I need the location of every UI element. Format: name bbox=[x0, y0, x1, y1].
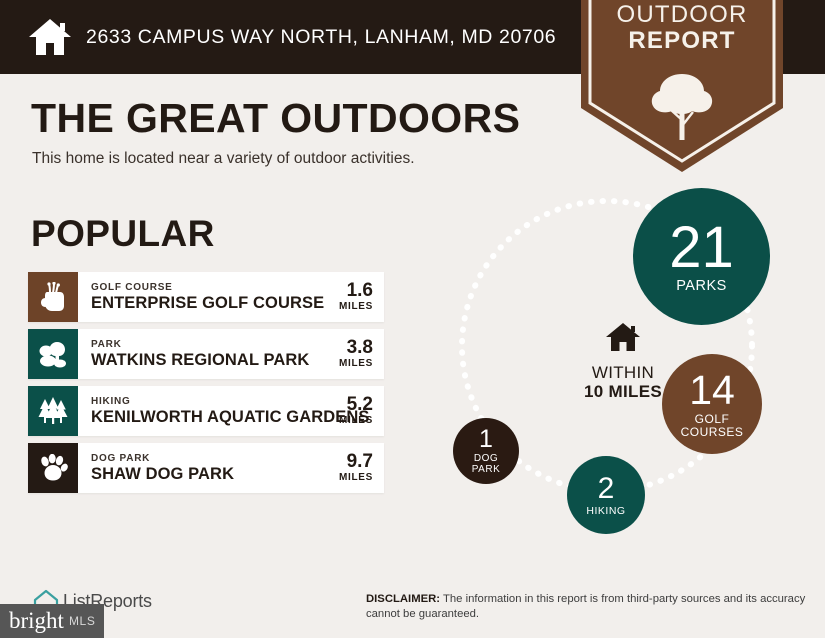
distance-unit: MILES bbox=[339, 472, 373, 484]
paw-print-icon bbox=[28, 443, 78, 493]
popular-list: GOLF COURSE ENTERPRISE GOLF COURSE 1.6 M… bbox=[28, 272, 384, 500]
golf-bag-icon bbox=[28, 272, 78, 322]
distance-value: 5.2 bbox=[347, 395, 373, 415]
list-item-name: ENTERPRISE GOLF COURSE bbox=[91, 294, 333, 313]
popular-heading: POPULAR bbox=[31, 213, 215, 255]
list-item[interactable]: PARK WATKINS REGIONAL PARK 3.8 MILES bbox=[28, 329, 384, 379]
list-item-text: GOLF COURSE ENTERPRISE GOLF COURSE bbox=[78, 272, 333, 322]
list-item-distance: 1.6 MILES bbox=[333, 272, 384, 322]
mls-wordmark: MLS bbox=[69, 614, 95, 628]
bubble-hiking[interactable]: 2 HIKING bbox=[567, 456, 645, 534]
bubble-label: HIKING bbox=[586, 506, 625, 517]
list-item[interactable]: DOG PARK SHAW DOG PARK 9.7 MILES bbox=[28, 443, 384, 493]
bubble-label-line-2: COURSES bbox=[681, 426, 744, 439]
disclaimer-label: DISCLAIMER: bbox=[366, 593, 440, 605]
bubble-label-line-2: PARK bbox=[472, 464, 501, 475]
page-subtitle: This home is located near a variety of o… bbox=[32, 150, 415, 168]
list-item-category: GOLF COURSE bbox=[91, 282, 333, 294]
chart-center-label: WITHIN 10 MILES bbox=[543, 321, 703, 401]
list-item-text: PARK WATKINS REGIONAL PARK bbox=[78, 329, 333, 379]
center-line-1: WITHIN bbox=[543, 363, 703, 382]
outdoor-report-badge: OUTDOOR REPORT bbox=[581, 0, 783, 172]
list-item-distance: 3.8 MILES bbox=[333, 329, 384, 379]
list-item-distance: 9.7 MILES bbox=[333, 443, 384, 493]
list-item-name: WATKINS REGIONAL PARK bbox=[91, 351, 333, 370]
outdoor-report-page: 2633 CAMPUS WAY NORTH, LANHAM, MD 20706 … bbox=[0, 0, 825, 638]
list-item-category: DOG PARK bbox=[91, 453, 333, 465]
bright-mls-logo: bright MLS bbox=[0, 604, 104, 638]
bubble-label: PARKS bbox=[676, 279, 727, 294]
distance-value: 3.8 bbox=[347, 338, 373, 358]
bubble-parks[interactable]: 21 PARKS bbox=[633, 188, 770, 325]
park-trees-icon bbox=[28, 329, 78, 379]
list-item-category: PARK bbox=[91, 339, 333, 351]
bubble-value: 1 bbox=[479, 427, 493, 452]
list-item-text: DOG PARK SHAW DOG PARK bbox=[78, 443, 333, 493]
list-item-text: HIKING KENILWORTH AQUATIC GARDENS bbox=[78, 386, 333, 436]
list-item-distance: 5.2 MILES bbox=[333, 386, 384, 436]
list-item-category: HIKING bbox=[91, 396, 333, 408]
bubble-label-line-1: DOG bbox=[474, 453, 498, 464]
distance-unit: MILES bbox=[339, 415, 373, 427]
page-title: THE GREAT OUTDOORS bbox=[31, 95, 520, 141]
bright-wordmark: bright bbox=[9, 609, 64, 633]
home-icon bbox=[28, 17, 72, 57]
distance-unit: MILES bbox=[339, 358, 373, 370]
bubble-value: 2 bbox=[598, 474, 615, 504]
property-address: 2633 CAMPUS WAY NORTH, LANHAM, MD 20706 bbox=[86, 26, 556, 49]
list-item[interactable]: GOLF COURSE ENTERPRISE GOLF COURSE 1.6 M… bbox=[28, 272, 384, 322]
home-icon bbox=[543, 321, 703, 358]
list-item[interactable]: HIKING KENILWORTH AQUATIC GARDENS 5.2 MI… bbox=[28, 386, 384, 436]
pine-trees-icon bbox=[28, 386, 78, 436]
distance-value: 1.6 bbox=[347, 281, 373, 301]
bubble-label-line-1: GOLF bbox=[695, 413, 730, 426]
distance-value: 9.7 bbox=[347, 452, 373, 472]
list-item-name: KENILWORTH AQUATIC GARDENS bbox=[91, 408, 333, 427]
center-line-2: 10 MILES bbox=[543, 382, 703, 401]
bubble-value: 21 bbox=[669, 219, 734, 277]
list-item-name: SHAW DOG PARK bbox=[91, 465, 333, 484]
disclaimer: DISCLAIMER: The information in this repo… bbox=[366, 592, 814, 621]
distance-unit: MILES bbox=[339, 301, 373, 313]
bubble-dog-park[interactable]: 1 DOG PARK bbox=[453, 418, 519, 484]
bubble-chart: 21 PARKS 14 GOLF COURSES 2 HIKING 1 DOG … bbox=[425, 178, 825, 553]
